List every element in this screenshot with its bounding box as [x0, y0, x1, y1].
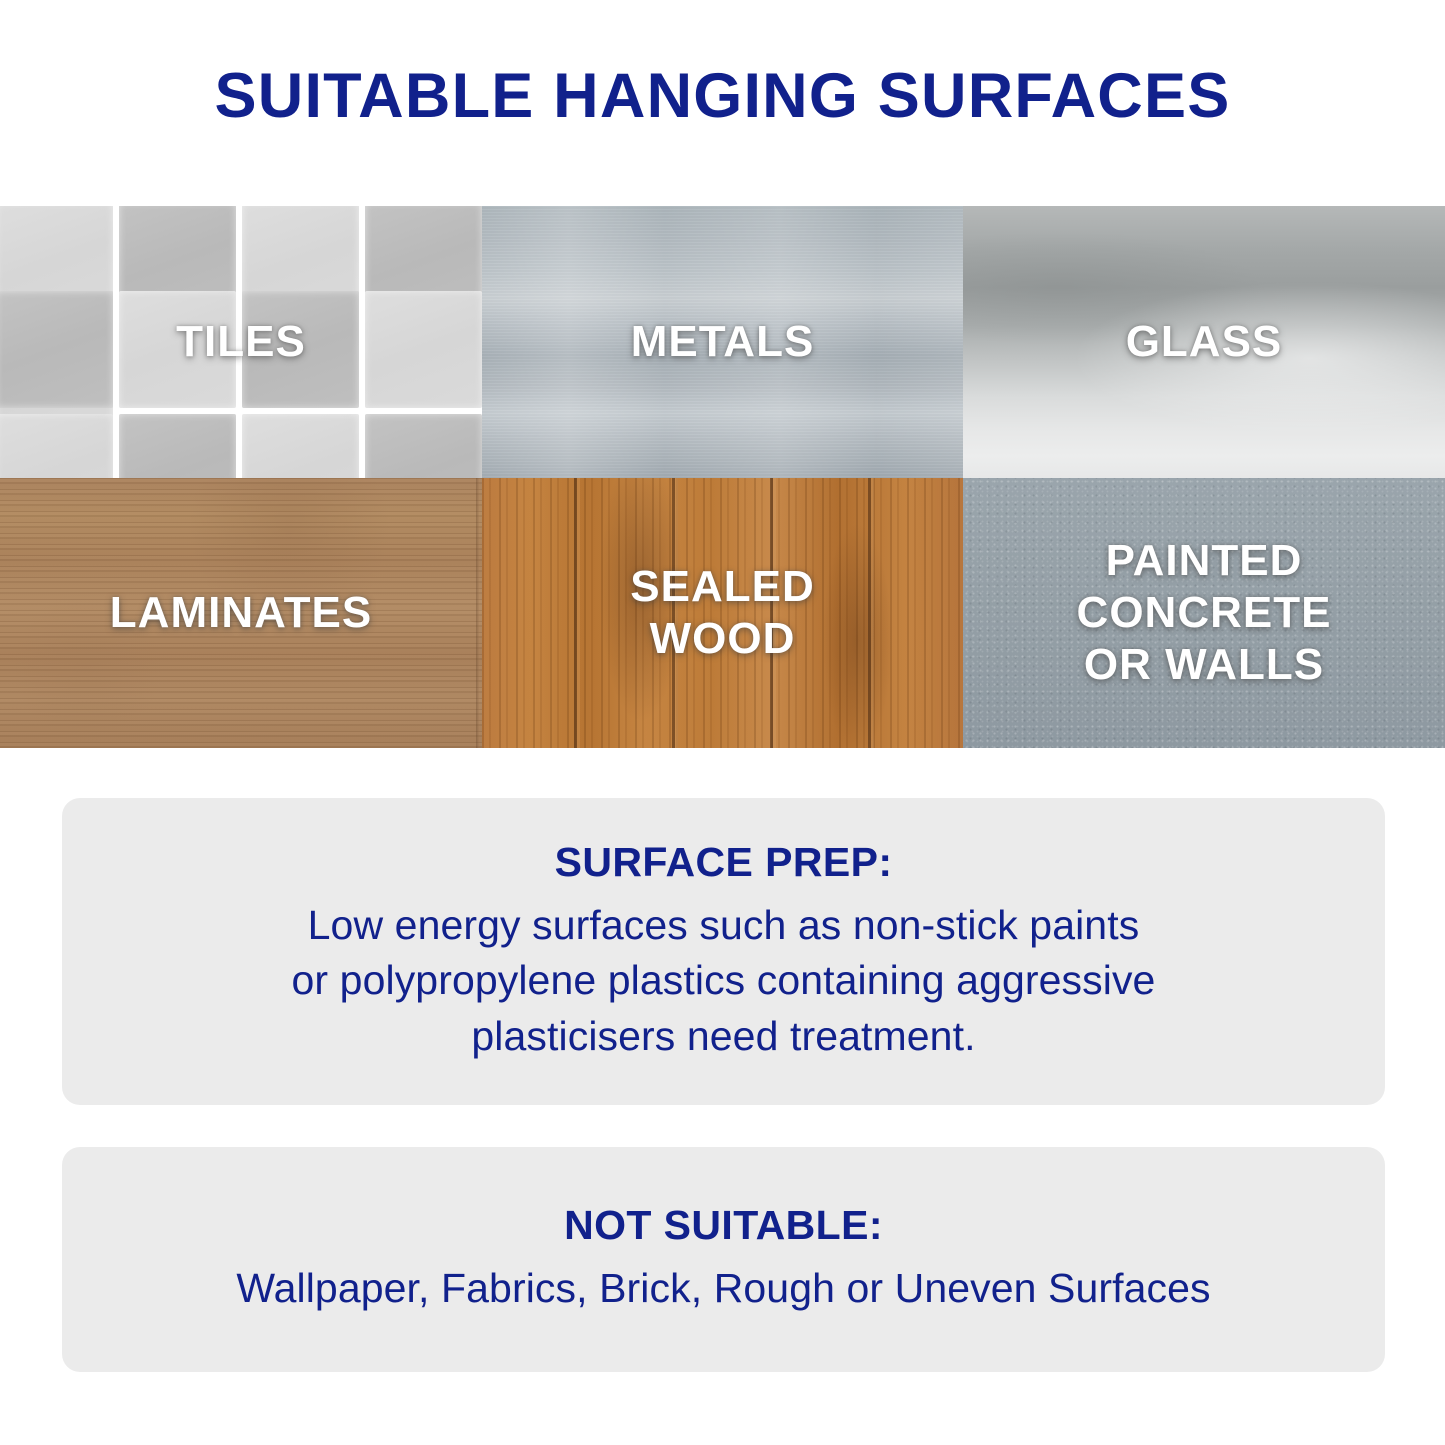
surface-cell-tiles: TILES: [0, 206, 482, 478]
surface-label-glass: GLASS: [1126, 316, 1283, 368]
surface-cell-metals: METALS: [482, 206, 963, 478]
surface-grid: TILES METALS GLASS LAMINATES SEALED WOOD…: [0, 206, 1445, 748]
surface-cell-laminates: LAMINATES: [0, 478, 482, 748]
laminate-seam: [476, 478, 479, 748]
not-suitable-heading: NOT SUITABLE:: [564, 1202, 883, 1249]
surface-prep-body: Low energy surfaces such as non-stick pa…: [292, 898, 1156, 1064]
surface-cell-painted-concrete: PAINTED CONCRETE OR WALLS: [963, 478, 1445, 748]
page-title: SUITABLE HANGING SURFACES: [0, 62, 1445, 131]
surface-label-tiles: TILES: [176, 316, 306, 368]
surface-prep-panel: SURFACE PREP: Low energy surfaces such a…: [62, 798, 1385, 1105]
surface-label-metals: METALS: [631, 316, 815, 368]
not-suitable-panel: NOT SUITABLE: Wallpaper, Fabrics, Brick,…: [62, 1147, 1385, 1372]
surface-cell-glass: GLASS: [963, 206, 1445, 478]
surface-label-painted-concrete: PAINTED CONCRETE OR WALLS: [1077, 535, 1332, 691]
not-suitable-body: Wallpaper, Fabrics, Brick, Rough or Unev…: [236, 1261, 1210, 1316]
surface-cell-sealed-wood: SEALED WOOD: [482, 478, 963, 748]
surface-label-laminates: LAMINATES: [110, 587, 372, 639]
surface-label-sealed-wood: SEALED WOOD: [630, 561, 814, 665]
surface-prep-heading: SURFACE PREP:: [555, 839, 893, 886]
